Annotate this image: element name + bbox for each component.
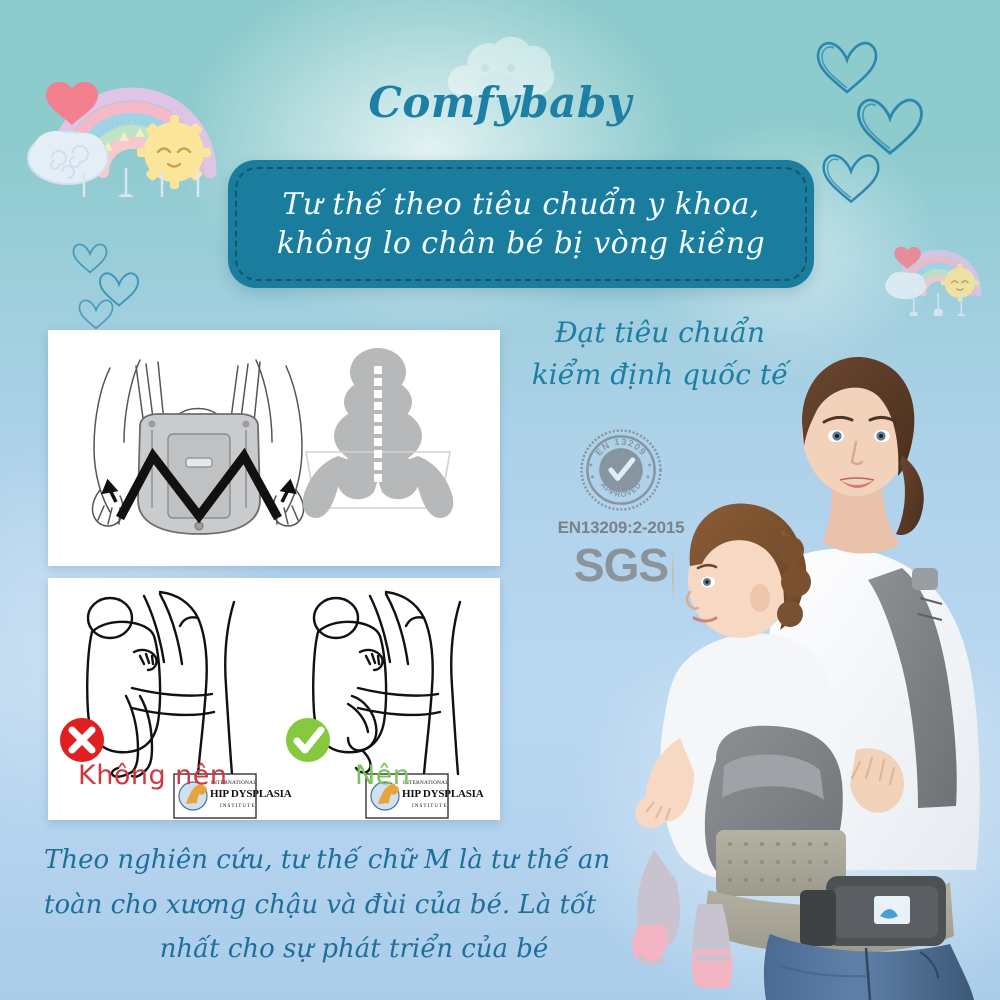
mother-carrying-baby-illustration [620,330,1000,1000]
headline-line-1: Tư thế theo tiêu chuẩn y khoa, [282,187,759,222]
heart-outline-icon [76,296,116,332]
headline-banner: Tư thế theo tiêu chuẩn y khoa, không lo … [228,160,814,288]
illustration-panel-m-position [48,330,500,566]
heart-outline-icon [818,148,884,208]
footnote-line-1: Theo nghiên cứu, tư thế chữ M là tư thế … [34,838,674,883]
svg-text:HIP DYSPLASIA: HIP DYSPLASIA [402,788,484,800]
footnote-line-2: toàn cho xương chậu và đùi của bé. Là tố… [34,883,674,928]
rainbow-sun-cloud-icon [882,206,992,316]
poster-canvas: Comfybaby Tư thế theo tiêu chuẩn y khoa,… [0,0,1000,1000]
carrier-and-pelvis-diagram [48,330,500,566]
svg-text:INSTITUTE: INSTITUTE [220,803,256,809]
label-recommended: Nên [355,760,410,791]
headline-line-2: không lo chân bé bị vòng kiềng [277,226,765,261]
svg-text:INSTITUTE: INSTITUTE [412,803,448,809]
footnote-paragraph: Theo nghiên cứu, tư thế chữ M là tư thế … [34,838,674,972]
cross-badge-icon [60,718,104,762]
label-not-recommended: Không nên [78,760,228,791]
product-photo-mother-and-baby [620,330,1000,1000]
footnote-line-3: nhất cho sự phát triển của bé [34,927,674,972]
brand-logo-text: Comfybaby [0,78,1000,127]
check-badge-icon [286,718,330,762]
